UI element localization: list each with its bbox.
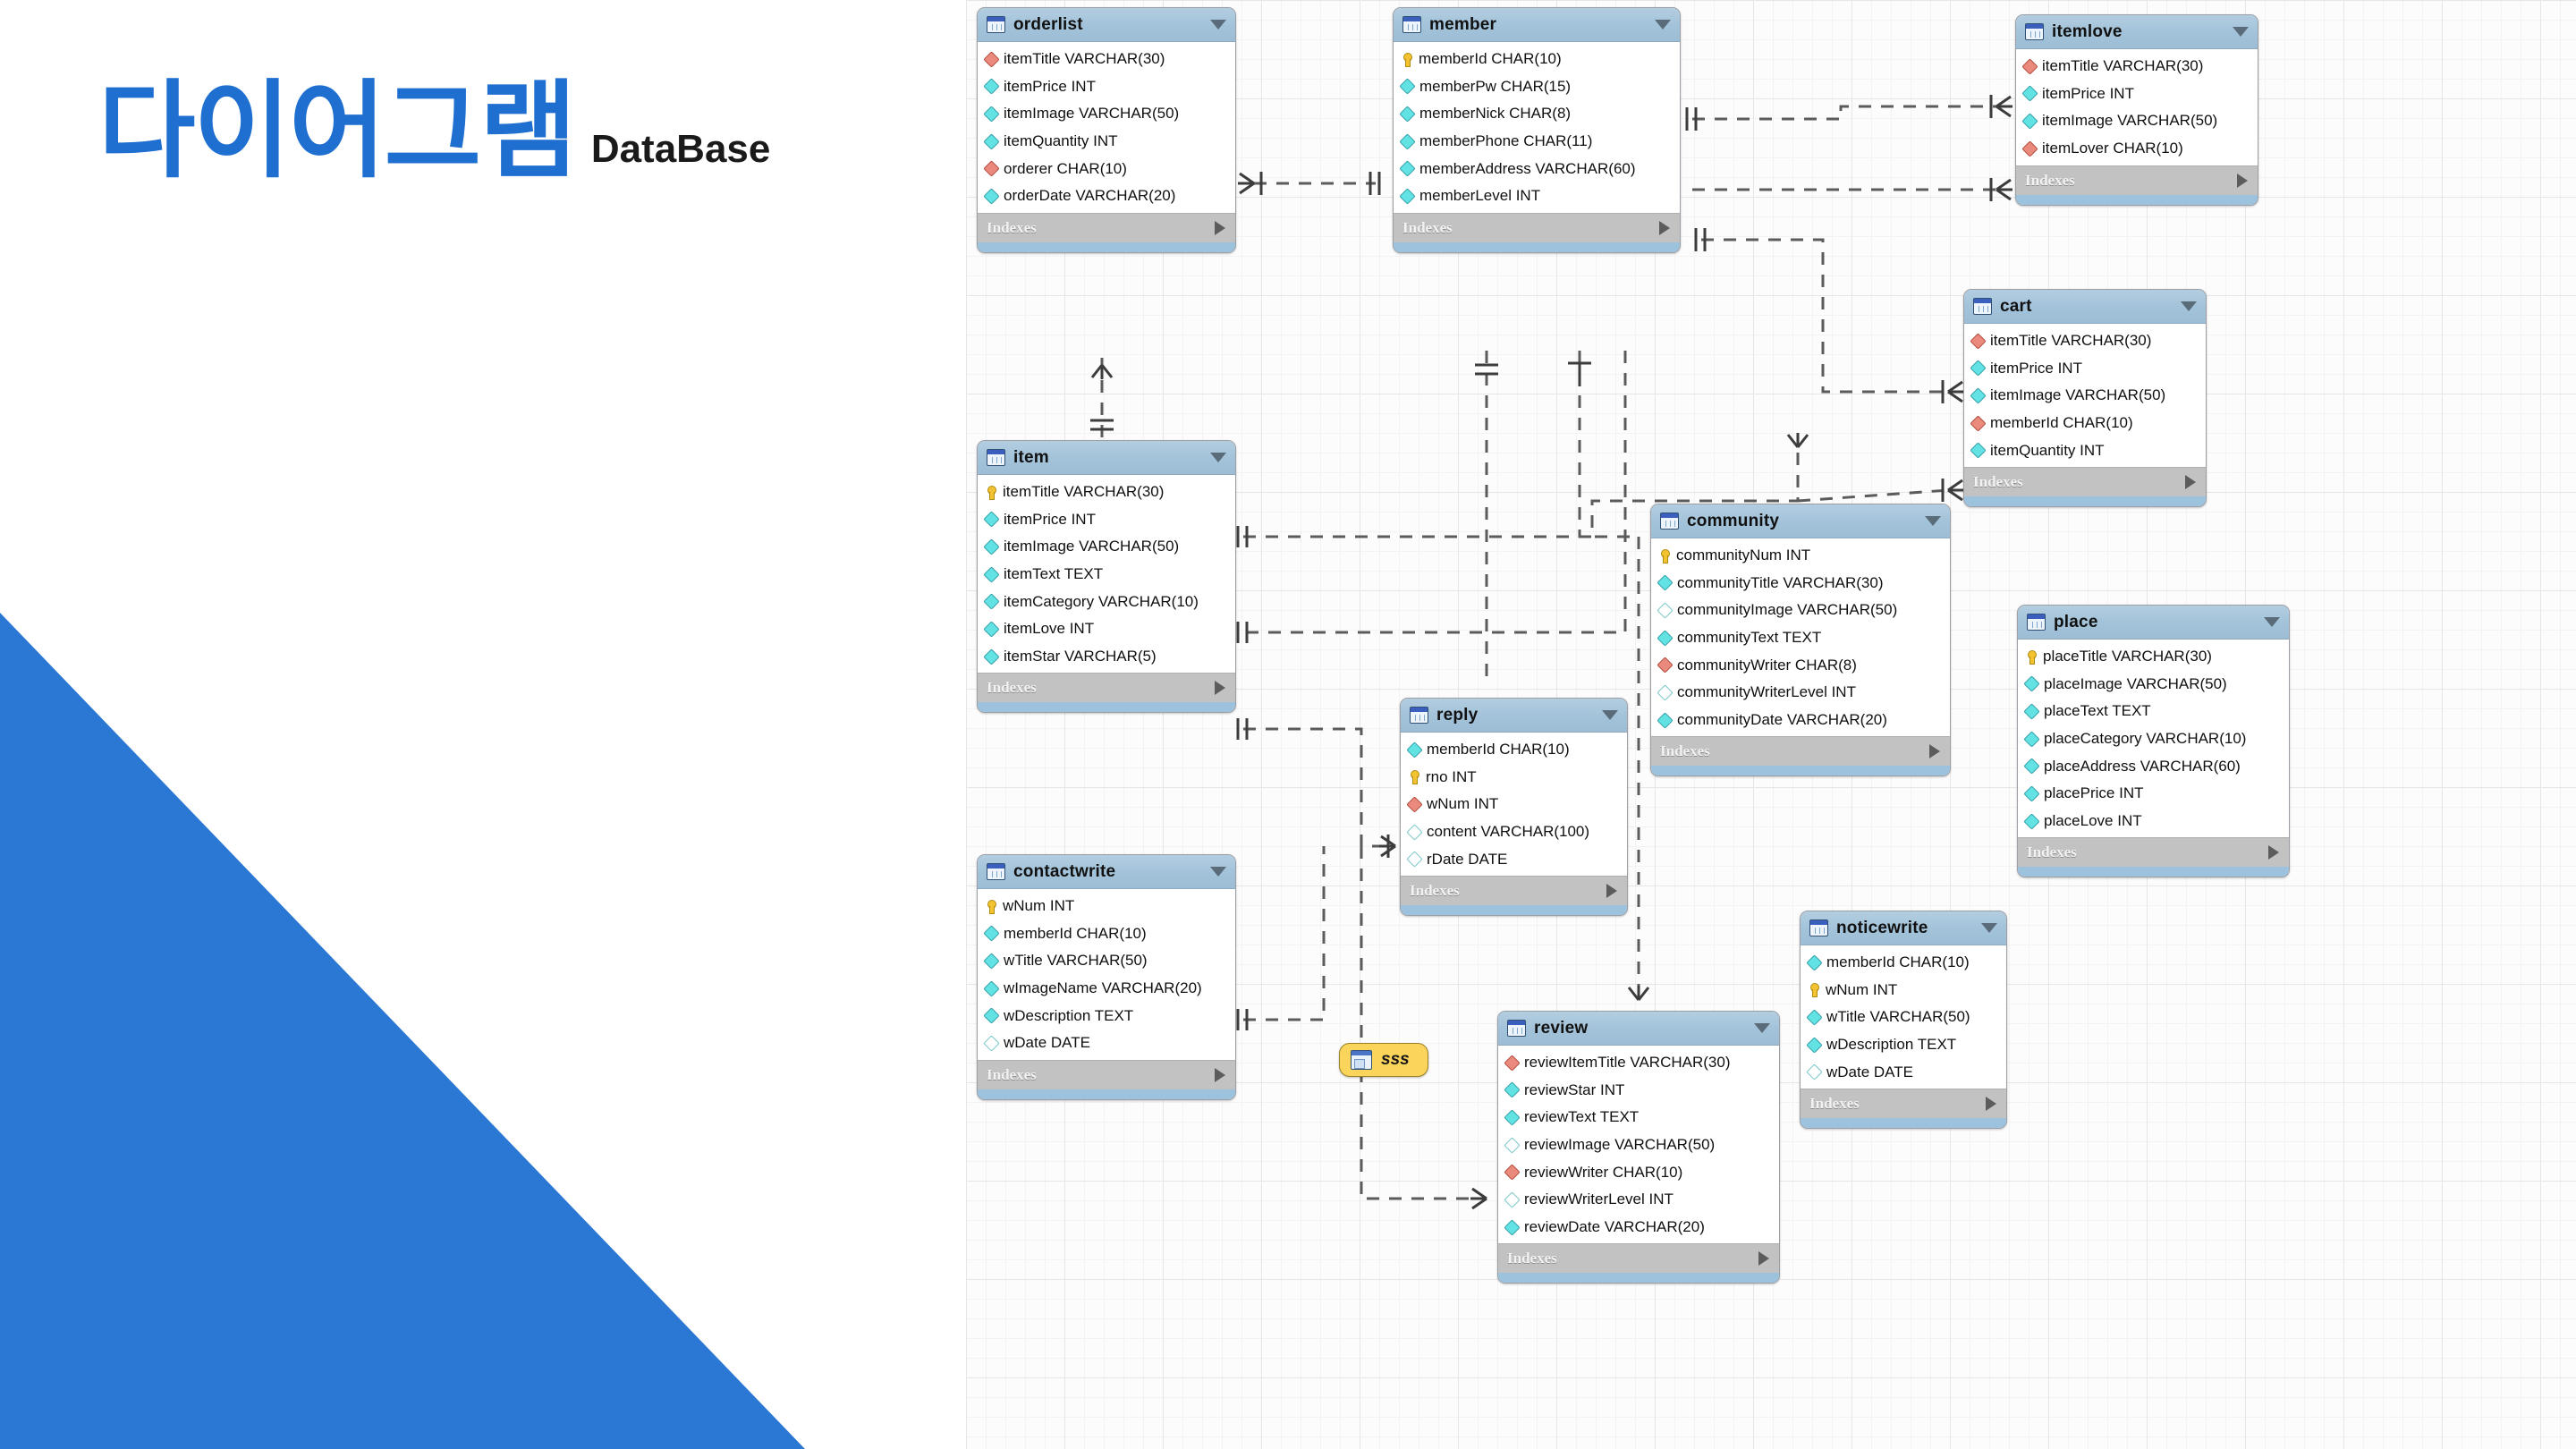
column-diamond-icon <box>1504 1109 1520 1125</box>
title-subtitle-text: DataBase <box>591 127 771 172</box>
column-label: itemPrice INT <box>2042 83 2134 106</box>
column-diamond-icon <box>983 648 999 665</box>
foreign-key-diamond-icon <box>1406 796 1422 812</box>
table-column[interactable]: itemPrice INT <box>2016 80 2258 108</box>
indexes-section[interactable]: Indexes <box>2018 837 2289 867</box>
table-column[interactable]: communityWriter CHAR(8) <box>1651 652 1950 680</box>
note-label: sss <box>1381 1050 1410 1070</box>
indexes-label: Indexes <box>2025 172 2075 190</box>
nullable-diamond-icon <box>1406 852 1422 868</box>
column-list: itemTitle VARCHAR(30)itemPrice INTitemIm… <box>1964 324 2206 467</box>
foreign-key-diamond-icon <box>1504 1055 1520 1071</box>
table-column[interactable]: wTitle VARCHAR(50) <box>1801 1004 2006 1031</box>
table-column[interactable]: wDescription TEXT <box>978 1003 1235 1030</box>
column-diamond-icon <box>1806 1037 1822 1053</box>
column-label: itemQuantity INT <box>1990 440 2105 462</box>
table-header[interactable]: place <box>2018 606 2289 640</box>
entity-table-noticewrite[interactable]: noticewritememberId CHAR(10)wNum INTwTit… <box>1800 911 2007 1129</box>
table-column[interactable]: itemLove INT <box>978 615 1235 643</box>
entity-table-community[interactable]: communitycommunityNum INTcommunityTitle … <box>1650 504 1951 776</box>
column-label: itemPrice INT <box>1004 76 1096 98</box>
indexes-label: Indexes <box>987 679 1037 697</box>
chevron-down-icon[interactable] <box>1210 867 1226 877</box>
table-footer-strip <box>1964 496 2206 506</box>
table-column[interactable]: wDate DATE <box>978 1030 1235 1057</box>
column-diamond-icon <box>983 926 999 942</box>
chevron-right-icon[interactable] <box>1215 681 1225 695</box>
column-label: itemTitle VARCHAR(30) <box>2042 55 2203 78</box>
table-header[interactable]: cart <box>1964 290 2206 324</box>
table-column[interactable]: communityDate VARCHAR(20) <box>1651 707 1950 734</box>
table-column[interactable]: wImageName VARCHAR(20) <box>978 975 1235 1003</box>
column-label: rno INT <box>1426 767 1477 789</box>
table-column[interactable]: itemQuantity INT <box>1964 437 2206 465</box>
table-column[interactable]: wTitle VARCHAR(50) <box>978 947 1235 975</box>
table-name: item <box>1013 448 1202 468</box>
table-column[interactable]: memberLevel INT <box>1394 182 1680 210</box>
chevron-down-icon[interactable] <box>1602 710 1618 720</box>
column-diamond-icon <box>983 594 999 610</box>
table-column[interactable]: memberId CHAR(10) <box>1394 46 1680 73</box>
column-diamond-icon <box>2023 703 2039 719</box>
chevron-right-icon[interactable] <box>1659 221 1670 235</box>
entity-table-item[interactable]: itemitemTitle VARCHAR(30)itemPrice INTit… <box>977 440 1236 713</box>
indexes-label: Indexes <box>1507 1250 1557 1267</box>
column-list: wNum INTmemberId CHAR(10)wTitle VARCHAR(… <box>978 889 1235 1060</box>
nullable-diamond-icon <box>1657 684 1673 700</box>
table-footer-strip <box>1498 1273 1779 1283</box>
table-column[interactable]: rDate DATE <box>1401 846 1627 874</box>
table-header[interactable]: reply <box>1401 699 1627 733</box>
column-label: placeTitle VARCHAR(30) <box>2043 646 2212 668</box>
table-icon <box>987 16 1005 33</box>
decorative-corner-triangle <box>0 613 805 1449</box>
column-label: orderer CHAR(10) <box>1004 158 1127 181</box>
table-icon <box>987 863 1005 880</box>
primary-key-icon <box>1659 549 1670 563</box>
table-column[interactable]: itemImage VARCHAR(50) <box>978 533 1235 561</box>
column-label: wTitle VARCHAR(50) <box>1826 1006 1970 1029</box>
table-column[interactable]: communityTitle VARCHAR(30) <box>1651 570 1950 597</box>
table-icon <box>2027 614 2046 631</box>
indexes-label: Indexes <box>987 1066 1037 1084</box>
column-label: itemImage VARCHAR(50) <box>1004 536 1179 558</box>
nullable-diamond-icon <box>1504 1191 1520 1207</box>
foreign-key-diamond-icon <box>2021 58 2038 74</box>
chevron-right-icon[interactable] <box>1929 744 1940 758</box>
table-column[interactable]: reviewStar INT <box>1498 1077 1779 1105</box>
column-label: communityWriterLevel INT <box>1677 682 1856 704</box>
entity-table-orderlist[interactable]: orderlistitemTitle VARCHAR(30)itemPrice … <box>977 7 1236 253</box>
column-label: memberAddress VARCHAR(60) <box>1419 158 1636 181</box>
table-column[interactable]: memberNick CHAR(8) <box>1394 100 1680 128</box>
column-label: wNum INT <box>1003 895 1074 918</box>
entity-table-place[interactable]: placeplaceTitle VARCHAR(30)placeImage VA… <box>2017 605 2290 877</box>
table-column[interactable]: orderDate VARCHAR(20) <box>978 182 1235 210</box>
table-icon <box>2025 23 2044 40</box>
column-diamond-icon <box>1399 133 1415 149</box>
table-icon <box>1660 513 1679 530</box>
column-list: itemTitle VARCHAR(30)itemPrice INTitemIm… <box>978 475 1235 673</box>
entity-table-member[interactable]: membermemberId CHAR(10)memberPw CHAR(15)… <box>1393 7 1681 253</box>
table-column[interactable]: reviewWriterLevel INT <box>1498 1186 1779 1214</box>
column-label: communityText TEXT <box>1677 627 1821 649</box>
column-diamond-icon <box>1399 188 1415 204</box>
foreign-key-diamond-icon <box>2021 140 2038 157</box>
entity-table-contactwrite[interactable]: contactwritewNum INTmemberId CHAR(10)wTi… <box>977 854 1236 1100</box>
indexes-label: Indexes <box>987 219 1037 237</box>
chevron-right-icon[interactable] <box>2268 845 2279 860</box>
column-label: communityDate VARCHAR(20) <box>1677 709 1887 732</box>
column-diamond-icon <box>1504 1219 1520 1235</box>
table-column[interactable]: reviewText TEXT <box>1498 1104 1779 1131</box>
entity-table-reply[interactable]: replymemberId CHAR(10)rno INTwNum INTcon… <box>1400 698 1628 916</box>
column-label: itemImage VARCHAR(50) <box>1990 385 2165 407</box>
column-label: memberId CHAR(10) <box>1826 952 1970 974</box>
indexes-label: Indexes <box>1402 219 1453 237</box>
column-label: content VARCHAR(100) <box>1427 821 1589 843</box>
column-diamond-icon <box>2023 731 2039 747</box>
foreign-key-diamond-icon <box>1970 415 1986 431</box>
column-label: itemPrice INT <box>1990 358 2082 380</box>
table-column[interactable]: communityImage VARCHAR(50) <box>1651 597 1950 624</box>
column-label: itemImage VARCHAR(50) <box>2042 110 2217 132</box>
table-column[interactable]: wNum INT <box>1401 791 1627 818</box>
table-name: review <box>1534 1019 1746 1038</box>
column-list: memberId CHAR(10)wNum INTwTitle VARCHAR(… <box>1801 945 2006 1089</box>
table-name: itemlove <box>2052 22 2224 42</box>
table-column[interactable]: rno INT <box>1401 764 1627 792</box>
column-label: memberId CHAR(10) <box>1004 923 1147 945</box>
table-column[interactable]: wDescription TEXT <box>1801 1031 2006 1059</box>
nullable-diamond-icon <box>1406 824 1422 840</box>
table-footer-strip <box>978 242 1235 252</box>
column-list: itemTitle VARCHAR(30)itemPrice INTitemIm… <box>978 42 1235 213</box>
view-icon <box>1351 1050 1372 1070</box>
table-footer-strip <box>1401 905 1627 915</box>
column-diamond-icon <box>1970 443 1986 459</box>
column-label: itemLover CHAR(10) <box>2042 138 2183 160</box>
table-header[interactable]: contactwrite <box>978 855 1235 889</box>
column-diamond-icon <box>983 980 999 996</box>
table-column[interactable]: placeText TEXT <box>2018 698 2289 725</box>
column-label: orderDate VARCHAR(20) <box>1004 185 1175 208</box>
column-diamond-icon <box>983 188 999 204</box>
chevron-down-icon[interactable] <box>1981 923 1997 933</box>
column-label: reviewItemTitle VARCHAR(30) <box>1524 1052 1731 1074</box>
link-item-reply <box>1243 729 1385 846</box>
table-column[interactable]: reviewItemTitle VARCHAR(30) <box>1498 1049 1779 1077</box>
table-column[interactable]: itemTitle VARCHAR(30) <box>978 479 1235 506</box>
table-column[interactable]: itemTitle VARCHAR(30) <box>2016 53 2258 80</box>
column-diamond-icon <box>983 133 999 149</box>
indexes-section[interactable]: Indexes <box>978 213 1235 242</box>
column-label: itemTitle VARCHAR(30) <box>1004 48 1165 71</box>
foreign-key-diamond-icon <box>1504 1165 1520 1181</box>
table-column[interactable]: orderer CHAR(10) <box>978 156 1235 183</box>
table-column[interactable]: itemPrice INT <box>978 506 1235 534</box>
link-member-item-b <box>1243 351 1625 632</box>
table-header[interactable]: community <box>1651 504 1950 538</box>
table-column[interactable]: itemQuantity INT <box>978 128 1235 156</box>
column-diamond-icon <box>2021 86 2038 102</box>
table-name: cart <box>2000 297 2173 317</box>
chevron-down-icon[interactable] <box>2264 617 2280 627</box>
table-column[interactable]: memberId CHAR(10) <box>1964 410 2206 437</box>
column-list: memberId CHAR(10)rno INTwNum INTcontent … <box>1401 733 1627 876</box>
column-label: itemLove INT <box>1004 618 1094 640</box>
table-column[interactable]: reviewImage VARCHAR(50) <box>1498 1131 1779 1159</box>
indexes-label: Indexes <box>2027 843 2077 861</box>
table-name: member <box>1429 15 1647 35</box>
table-column[interactable]: placePrice INT <box>2018 780 2289 808</box>
table-column[interactable]: memberPhone CHAR(11) <box>1394 128 1680 156</box>
table-column[interactable]: reviewDate VARCHAR(20) <box>1498 1214 1779 1241</box>
table-header[interactable]: noticewrite <box>1801 911 2006 945</box>
table-column[interactable]: placeCategory VARCHAR(10) <box>2018 725 2289 753</box>
indexes-section[interactable]: Indexes <box>2016 165 2258 195</box>
column-label: reviewWriterLevel INT <box>1524 1189 1674 1211</box>
column-label: itemStar VARCHAR(5) <box>1004 646 1157 668</box>
table-name: orderlist <box>1013 15 1202 35</box>
column-diamond-icon <box>1970 387 1986 403</box>
table-column[interactable]: itemStar VARCHAR(5) <box>978 643 1235 671</box>
chevron-right-icon[interactable] <box>1606 884 1617 898</box>
table-column[interactable]: itemImage VARCHAR(50) <box>978 100 1235 128</box>
slide-canvas: 다이어그램DataBase <box>0 0 2576 1449</box>
column-label: placeLove INT <box>2044 810 2142 833</box>
indexes-section[interactable]: Indexes <box>978 1060 1235 1089</box>
table-column[interactable]: itemPrice INT <box>978 73 1235 101</box>
table-header[interactable]: review <box>1498 1012 1779 1046</box>
column-label: wTitle VARCHAR(50) <box>1004 950 1148 972</box>
chevron-down-icon[interactable] <box>1210 20 1226 30</box>
chevron-right-icon[interactable] <box>1215 1068 1225 1082</box>
column-label: communityTitle VARCHAR(30) <box>1677 572 1884 595</box>
column-label: wDescription TEXT <box>1004 1005 1133 1028</box>
indexes-section[interactable]: Indexes <box>978 673 1235 702</box>
indexes-label: Indexes <box>1660 742 1710 760</box>
chevron-right-icon[interactable] <box>1215 221 1225 235</box>
column-label: itemPrice INT <box>1004 509 1096 531</box>
table-icon <box>1809 919 1828 936</box>
link-member-cart <box>1701 240 1948 392</box>
table-icon <box>1402 16 1421 33</box>
column-diamond-icon <box>1399 161 1415 177</box>
indexes-section[interactable]: Indexes <box>1498 1243 1779 1273</box>
table-column[interactable]: wDate DATE <box>1801 1059 2006 1087</box>
column-diamond-icon <box>2023 785 2039 801</box>
table-column[interactable]: wNum INT <box>978 893 1235 920</box>
column-label: wDate DATE <box>1826 1062 1913 1084</box>
table-header[interactable]: item <box>978 441 1235 475</box>
indexes-section[interactable]: Indexes <box>1651 736 1950 766</box>
table-footer-strip <box>2018 867 2289 877</box>
column-label: itemQuantity INT <box>1004 131 1118 153</box>
link-chain-cart <box>1798 490 1948 501</box>
column-label: placeAddress VARCHAR(60) <box>2044 756 2241 778</box>
column-label: reviewStar INT <box>1524 1080 1624 1102</box>
column-label: communityWriter CHAR(8) <box>1677 655 1857 677</box>
column-diamond-icon <box>1406 741 1422 758</box>
table-header[interactable]: orderlist <box>978 8 1235 42</box>
column-label: wImageName VARCHAR(20) <box>1004 978 1202 1000</box>
column-label: memberNick CHAR(8) <box>1419 103 1571 125</box>
table-column[interactable]: itemPrice INT <box>1964 355 2206 383</box>
table-icon <box>1410 707 1428 724</box>
column-label: memberPhone CHAR(11) <box>1419 131 1592 153</box>
table-column[interactable]: itemCategory VARCHAR(10) <box>978 589 1235 616</box>
primary-key-icon <box>2026 650 2037 664</box>
column-diamond-icon <box>983 538 999 555</box>
table-column[interactable]: communityWriterLevel INT <box>1651 679 1950 707</box>
title-main-text: 다이어그램 <box>98 76 575 187</box>
table-name: contactwrite <box>1013 862 1202 882</box>
chevron-down-icon[interactable] <box>2233 27 2249 37</box>
chevron-right-icon[interactable] <box>2237 174 2248 188</box>
chevron-right-icon[interactable] <box>1758 1251 1769 1266</box>
column-label: reviewImage VARCHAR(50) <box>1524 1134 1715 1157</box>
column-diamond-icon <box>2023 758 2039 775</box>
table-name: community <box>1687 512 1917 531</box>
column-label: memberId CHAR(10) <box>1990 412 2133 435</box>
entity-table-review[interactable]: reviewreviewItemTitle VARCHAR(30)reviewS… <box>1497 1011 1780 1284</box>
note-node-sss[interactable]: sss <box>1339 1043 1428 1077</box>
column-label: itemTitle VARCHAR(30) <box>1990 330 2151 352</box>
column-label: wNum INT <box>1427 793 1498 816</box>
chevron-down-icon[interactable] <box>1754 1023 1770 1033</box>
column-diamond-icon <box>1806 954 1822 970</box>
table-footer-strip <box>2016 195 2258 205</box>
slide-left-panel: 다이어그램DataBase <box>0 0 966 1449</box>
nullable-diamond-icon <box>983 1035 999 1051</box>
indexes-section[interactable]: Indexes <box>1401 876 1627 905</box>
column-diamond-icon <box>983 621 999 637</box>
column-diamond-icon <box>983 512 999 528</box>
table-column[interactable]: itemImage VARCHAR(50) <box>2016 107 2258 135</box>
indexes-section[interactable]: Indexes <box>1394 213 1680 242</box>
column-label: reviewDate VARCHAR(20) <box>1524 1216 1705 1239</box>
column-label: communityNum INT <box>1676 545 1810 567</box>
table-footer-strip <box>978 702 1235 712</box>
chevron-down-icon[interactable] <box>1925 516 1941 526</box>
table-column[interactable]: memberPw CHAR(15) <box>1394 73 1680 101</box>
table-column[interactable]: itemText TEXT <box>978 561 1235 589</box>
table-name: noticewrite <box>1836 919 1973 938</box>
column-list: communityNum INTcommunityTitle VARCHAR(3… <box>1651 538 1950 736</box>
nullable-diamond-icon <box>1504 1137 1520 1153</box>
column-label: itemImage VARCHAR(50) <box>1004 103 1179 125</box>
er-diagram-canvas[interactable]: orderlistitemTitle VARCHAR(30)itemPrice … <box>966 0 2576 1449</box>
column-list: memberId CHAR(10)memberPw CHAR(15)member… <box>1394 42 1680 213</box>
column-label: reviewWriter CHAR(10) <box>1524 1162 1682 1184</box>
link-member-itemlove-top <box>1692 106 1996 119</box>
table-footer-strip <box>978 1089 1235 1099</box>
column-label: itemText TEXT <box>1004 563 1103 586</box>
chevron-down-icon[interactable] <box>1210 453 1226 462</box>
column-diamond-icon <box>1806 1009 1822 1025</box>
entity-table-itemlove[interactable]: itemloveitemTitle VARCHAR(30)itemPrice I… <box>2015 14 2258 206</box>
table-column[interactable]: placeImage VARCHAR(50) <box>2018 671 2289 699</box>
foreign-key-diamond-icon <box>1657 657 1673 674</box>
column-label: reviewText TEXT <box>1524 1106 1639 1129</box>
table-column[interactable]: content VARCHAR(100) <box>1401 818 1627 846</box>
table-icon <box>1507 1020 1526 1037</box>
column-label: memberLevel INT <box>1419 185 1540 208</box>
primary-key-icon <box>1409 770 1419 784</box>
column-label: memberId CHAR(10) <box>1419 48 1562 71</box>
link-member-community-b <box>1580 351 1639 537</box>
foreign-key-diamond-icon <box>1970 333 1986 349</box>
column-diamond-icon <box>1399 79 1415 95</box>
table-name: place <box>2054 613 2256 632</box>
table-column[interactable]: placeAddress VARCHAR(60) <box>2018 753 2289 781</box>
table-column[interactable]: wNum INT <box>1801 977 2006 1004</box>
chevron-down-icon[interactable] <box>1655 20 1671 30</box>
table-column[interactable]: memberId CHAR(10) <box>1801 949 2006 977</box>
table-icon <box>1973 298 1992 315</box>
column-label: wDescription TEXT <box>1826 1034 1956 1056</box>
table-name: reply <box>1436 706 1594 725</box>
column-list: itemTitle VARCHAR(30)itemPrice INTitemIm… <box>2016 49 2258 165</box>
table-column[interactable]: itemImage VARCHAR(50) <box>1964 382 2206 410</box>
table-footer-strip <box>1651 766 1950 775</box>
column-list: placeTitle VARCHAR(30)placeImage VARCHAR… <box>2018 640 2289 837</box>
primary-key-icon <box>1809 983 1819 996</box>
indexes-label: Indexes <box>1410 882 1460 900</box>
column-list: reviewItemTitle VARCHAR(30)reviewStar IN… <box>1498 1046 1779 1243</box>
table-icon <box>987 449 1005 466</box>
column-diamond-icon <box>983 1008 999 1024</box>
column-label: itemCategory VARCHAR(10) <box>1004 591 1199 614</box>
column-label: wDate DATE <box>1004 1032 1090 1055</box>
table-column[interactable]: communityText TEXT <box>1651 624 1950 652</box>
table-column[interactable]: itemLover CHAR(10) <box>2016 135 2258 163</box>
table-column[interactable]: memberAddress VARCHAR(60) <box>1394 156 1680 183</box>
column-label: wNum INT <box>1826 979 1897 1002</box>
column-label: communityImage VARCHAR(50) <box>1677 599 1897 622</box>
column-diamond-icon <box>1399 106 1415 122</box>
table-header[interactable]: member <box>1394 8 1680 42</box>
table-column[interactable]: placeTitle VARCHAR(30) <box>2018 643 2289 671</box>
nullable-diamond-icon <box>1657 602 1673 618</box>
table-column[interactable]: communityNum INT <box>1651 542 1950 570</box>
indexes-section[interactable]: Indexes <box>1801 1089 2006 1118</box>
foreign-key-diamond-icon <box>983 51 999 67</box>
chevron-down-icon[interactable] <box>2181 301 2197 311</box>
entity-table-cart[interactable]: cartitemTitle VARCHAR(30)itemPrice INTit… <box>1963 289 2207 507</box>
table-column[interactable]: memberId CHAR(10) <box>1401 736 1627 764</box>
table-footer-strip <box>1394 242 1680 252</box>
table-column[interactable]: reviewWriter CHAR(10) <box>1498 1159 1779 1187</box>
indexes-section[interactable]: Indexes <box>1964 467 2206 496</box>
table-header[interactable]: itemlove <box>2016 15 2258 49</box>
column-diamond-icon <box>1657 630 1673 646</box>
column-label: placeText TEXT <box>2044 700 2151 723</box>
table-column[interactable]: memberId CHAR(10) <box>978 920 1235 948</box>
chevron-right-icon[interactable] <box>1986 1097 1996 1111</box>
table-column[interactable]: itemTitle VARCHAR(30) <box>978 46 1235 73</box>
chevron-right-icon[interactable] <box>2185 475 2196 489</box>
column-label: itemTitle VARCHAR(30) <box>1003 481 1164 504</box>
column-label: memberPw CHAR(15) <box>1419 76 1571 98</box>
column-diamond-icon <box>983 566 999 582</box>
column-diamond-icon <box>1504 1082 1520 1098</box>
table-column[interactable]: placeLove INT <box>2018 808 2289 835</box>
table-column[interactable]: itemTitle VARCHAR(30) <box>1964 327 2206 355</box>
primary-key-icon <box>986 900 996 913</box>
column-diamond-icon <box>2023 813 2039 829</box>
